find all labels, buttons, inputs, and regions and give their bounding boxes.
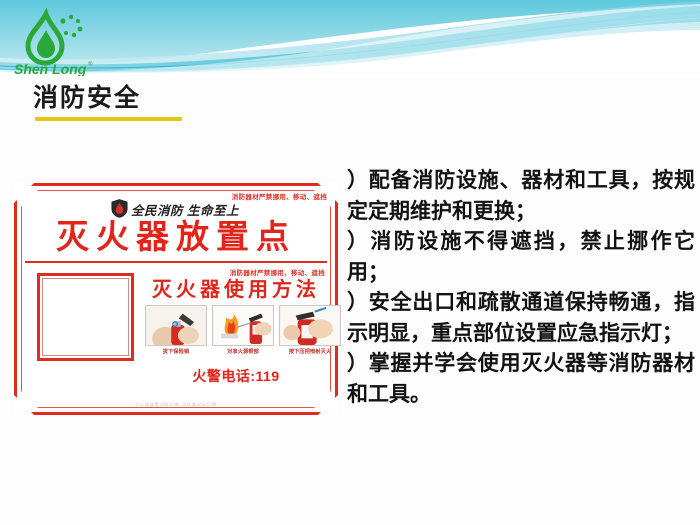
sign-main-title: 灭火器放置点 <box>23 217 329 257</box>
step-image-pull-pin <box>145 305 207 346</box>
slide-root: Shen Long ® 消防安全 全民消防 生命至上 消防器材严禁挪用、移动、遮… <box>0 0 700 525</box>
step-image-aim-base <box>212 305 274 346</box>
shen-long-logo: Shen Long ® <box>6 4 111 76</box>
step-caption: 拔下保险销 <box>145 348 207 355</box>
bullet-item: ）配备消防设施、器材和工具，按规定定期维护和更换； <box>347 166 695 227</box>
bullet-item: ）掌握并学会使用灭火器等消防器材和工具。 <box>347 349 695 410</box>
step-caption: 按下压把喷射灭火 <box>279 348 341 355</box>
usage-step: 拔下保险销 <box>145 305 207 355</box>
step-caption: 对准火源根部 <box>212 348 274 355</box>
sign-top-row: 全民消防 生命至上 消防器材严禁挪用、移动、遮挡 <box>23 191 329 217</box>
sign-watermark: 灭火器放置点标识牌 消防器材标识牌 <box>63 402 289 408</box>
svg-text:®: ® <box>88 61 93 68</box>
emergency-phone: 火警电话:119 <box>145 367 327 385</box>
safety-bullet-list: ）配备消防设施、器材和工具，按规定定期维护和更换； ）消防设施不得遮挡，禁止挪作… <box>347 166 695 410</box>
bullet-item: ）消防设施不得遮挡，禁止挪作它用； <box>347 227 695 288</box>
usage-step: 按下压把喷射灭火 <box>279 305 341 355</box>
sign-divider <box>25 261 327 263</box>
svg-text:Shen Long: Shen Long <box>14 61 87 76</box>
sign-warning-top: 消防器材严禁挪用、移动、遮挡 <box>232 191 327 201</box>
fire-extinguisher-sign: 全民消防 生命至上 消防器材严禁挪用、移动、遮挡 灭火器放置点 消防器材严禁挪用… <box>14 183 338 415</box>
bullet-item: ）安全出口和疏散通道保持畅通，指示明显，重点部位设置应急指示灯； <box>347 288 695 349</box>
page-title: 消防安全 <box>33 83 141 113</box>
sign-content: 全民消防 生命至上 消防器材严禁挪用、移动、遮挡 灭火器放置点 消防器材严禁挪用… <box>23 191 329 407</box>
usage-steps: 拔下保险销 <box>145 305 327 355</box>
sign-sub-title: 灭火器使用方法 <box>145 278 327 302</box>
fire-department-badge-icon <box>111 199 128 218</box>
step-image-squeeze-handle <box>279 305 341 346</box>
extinguisher-photo-placeholder <box>37 273 134 361</box>
usage-step: 对准火源根部 <box>212 305 274 355</box>
title-underline <box>35 117 182 121</box>
sign-warning-second: 消防器材严禁挪用、移动、遮挡 <box>230 267 325 277</box>
